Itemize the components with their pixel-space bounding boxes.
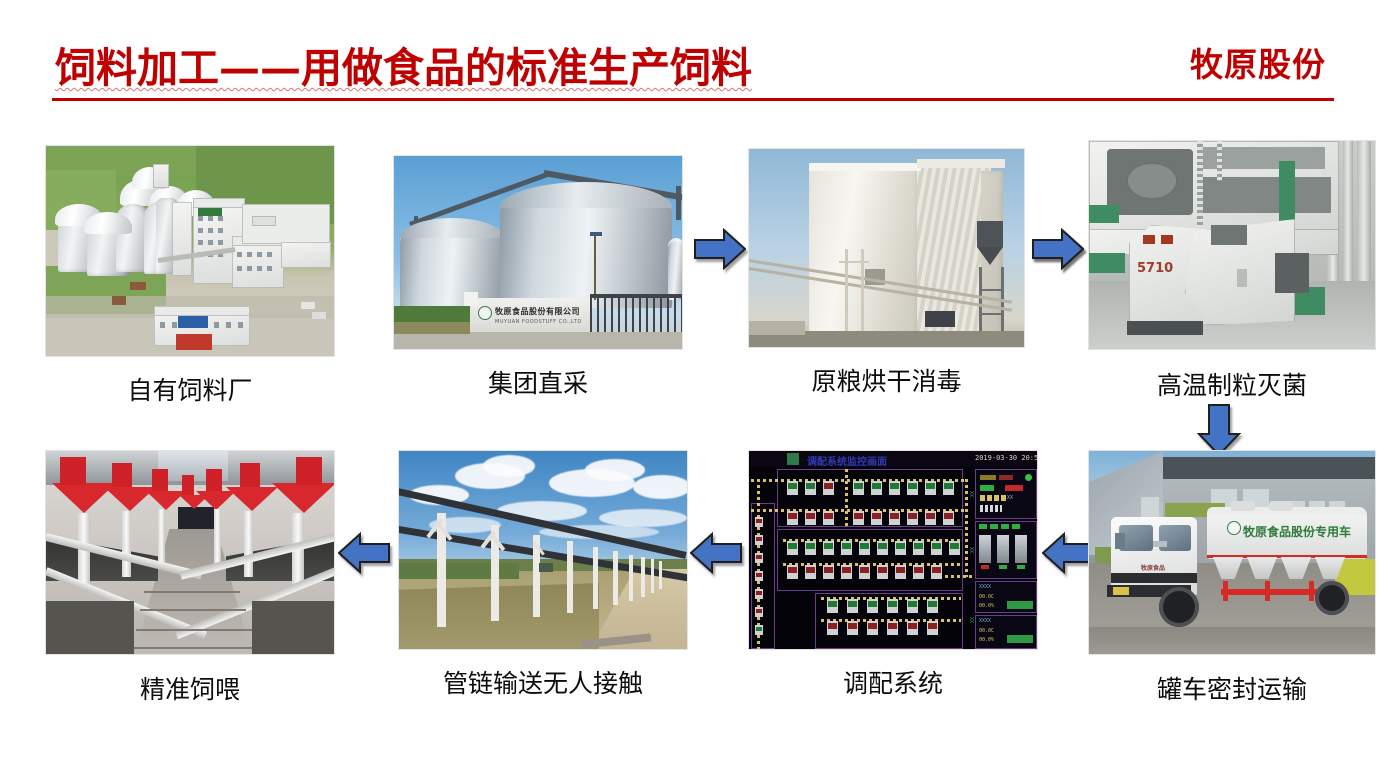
- flow-step-4[interactable]: 5710 高温制粒灭菌: [1088, 140, 1376, 350]
- caption-step-8: 精准饲喂: [45, 670, 335, 706]
- arrow-step5-to-step6: [1042, 532, 1094, 574]
- machine-serial-number: 5710: [1137, 261, 1173, 276]
- photo-sealed-tanker-truck: 牧原食品股份专用车 牧原食品: [1088, 450, 1376, 655]
- sign-english-text: MUYUAN FOODSTUFF CO.,LTD: [495, 319, 582, 325]
- flow-step-2[interactable]: 牧原食品股份有限公司 MUYUAN FOODSTUFF CO.,LTD 集团直采: [393, 155, 683, 350]
- page-title: 饲料加工——用做食品的标准生产饲料: [55, 34, 752, 94]
- photo-grain-drying-tower: [748, 148, 1025, 348]
- arrow-step6-to-step7: [690, 532, 742, 574]
- photo-grain-tanks-company-sign: 牧原食品股份有限公司 MUYUAN FOODSTUFF CO.,LTD: [393, 155, 683, 350]
- slide-header: 饲料加工——用做食品的标准生产饲料 牧原股份: [0, 34, 1388, 106]
- sign-chinese-text: 牧原食品股份有限公司: [495, 306, 580, 317]
- company-logo: 牧原股份: [1190, 38, 1326, 86]
- flow-step-6[interactable]: 调配系统监控画面 2019-03-30 20:5: [748, 450, 1038, 650]
- caption-step-4: 高温制粒灭菌: [1088, 366, 1376, 402]
- flow-step-8[interactable]: 精准饲喂: [45, 450, 335, 655]
- flow-step-5[interactable]: 牧原食品股份专用车 牧原食品 罐车密封运输: [1088, 450, 1376, 655]
- flow-step-7[interactable]: 管链输送无人接触: [398, 450, 688, 650]
- caption-step-2: 集团直采: [393, 364, 683, 400]
- caption-step-5: 罐车密封运输: [1088, 670, 1376, 706]
- truck-livery-text: 牧原食品股份专用车: [1243, 523, 1351, 540]
- photo-aerial-feed-mill: [45, 145, 335, 357]
- caption-step-7: 管链输送无人接触: [398, 664, 688, 700]
- photo-precision-feeding-barn: [45, 450, 335, 655]
- caption-step-1: 自有饲料厂: [45, 371, 335, 407]
- arrow-step4-to-step5: [1197, 404, 1241, 456]
- caption-step-3: 原粮烘干消毒: [748, 362, 1025, 398]
- arrow-step1-to-step2: [694, 228, 746, 270]
- photo-pellet-mill: 5710: [1088, 140, 1376, 350]
- photo-scada-blending-system: 调配系统监控画面 2019-03-30 20:5: [748, 450, 1038, 650]
- flow-step-3[interactable]: 原粮烘干消毒: [748, 148, 1025, 348]
- caption-step-6: 调配系统: [748, 664, 1038, 700]
- scada-timestamp: 2019-03-30 20:5: [975, 454, 1038, 462]
- header-divider: [52, 98, 1334, 101]
- arrow-step3-to-step4: [1032, 228, 1084, 270]
- scada-title: 调配系统监控画面: [807, 453, 887, 468]
- flow-step-1[interactable]: 自有饲料厂: [45, 145, 335, 357]
- photo-pipe-chain-conveyor: [398, 450, 688, 650]
- arrow-step7-to-step8: [338, 532, 390, 574]
